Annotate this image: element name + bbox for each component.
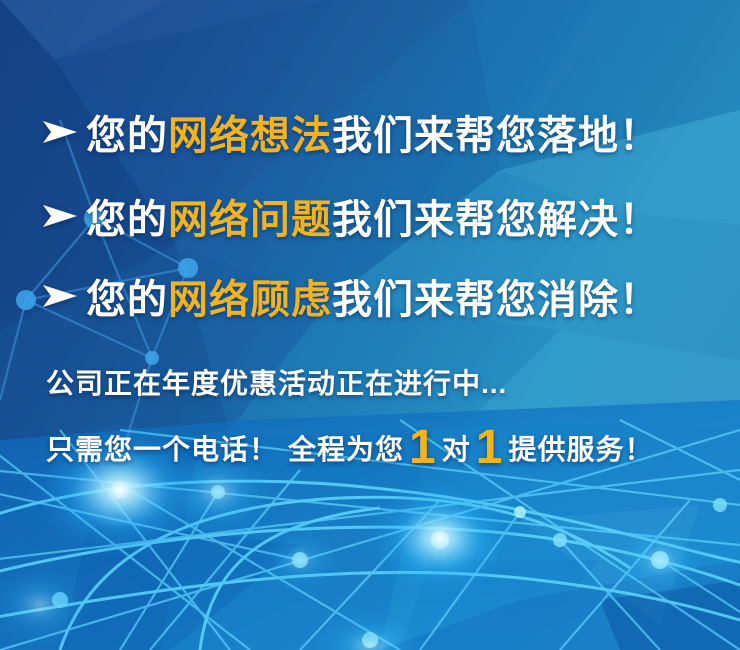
bullet-3-pre: 您的: [86, 278, 168, 322]
bullet-row-3: 您的网络顾虑我们来帮您消除！: [0, 268, 740, 324]
bullet-2-pre: 您的: [86, 198, 168, 242]
promo-line-2-mid: 对: [442, 434, 471, 465]
bullet-1-highlight: 网络想法: [168, 114, 332, 158]
promo-number-one-second: 1: [471, 421, 509, 474]
bullet-row-2: 您的网络问题我们来帮您解决！: [0, 188, 740, 244]
bullet-3-post: 我们来帮您消除！: [332, 278, 660, 322]
promo-line-2: 只需您一个电话！全程为您1对1提供服务！: [46, 428, 653, 468]
promo-line-2-part2: 全程为您: [288, 434, 404, 465]
bullet-text-1: 您的网络想法我们来帮您落地！: [86, 103, 660, 161]
bullet-1-pre: 您的: [86, 114, 168, 158]
arrow-right-triangle-icon: [40, 119, 86, 145]
promo-line-2-part1: 只需您一个电话！: [46, 434, 278, 465]
promo-line-1: 公司正在年度优惠活动正在进行中...: [46, 362, 507, 402]
bullet-3-highlight: 网络顾虑: [168, 278, 332, 322]
bullet-text-2: 您的网络问题我们来帮您解决！: [86, 187, 660, 245]
bullet-2-post: 我们来帮您解决！: [332, 198, 660, 242]
bullet-2-highlight: 网络问题: [168, 198, 332, 242]
bullet-text-3: 您的网络顾虑我们来帮您消除！: [86, 267, 660, 325]
promo-number-one-first: 1: [404, 421, 442, 474]
promo-banner: 您的网络想法我们来帮您落地！ 您的网络问题我们来帮您解决！ 您的网络顾虑我们来帮…: [0, 0, 740, 650]
promo-line-1-text: 公司正在年度优惠活动正在进行中...: [46, 368, 507, 399]
promo-line-2-part3: 提供服务！: [508, 434, 653, 465]
bullet-row-1: 您的网络想法我们来帮您落地！: [0, 104, 740, 160]
arrow-right-triangle-icon: [40, 283, 86, 309]
arrow-right-triangle-icon: [40, 203, 86, 229]
bullet-1-post: 我们来帮您落地！: [332, 114, 660, 158]
banner-content: 您的网络想法我们来帮您落地！ 您的网络问题我们来帮您解决！ 您的网络顾虑我们来帮…: [0, 0, 740, 650]
